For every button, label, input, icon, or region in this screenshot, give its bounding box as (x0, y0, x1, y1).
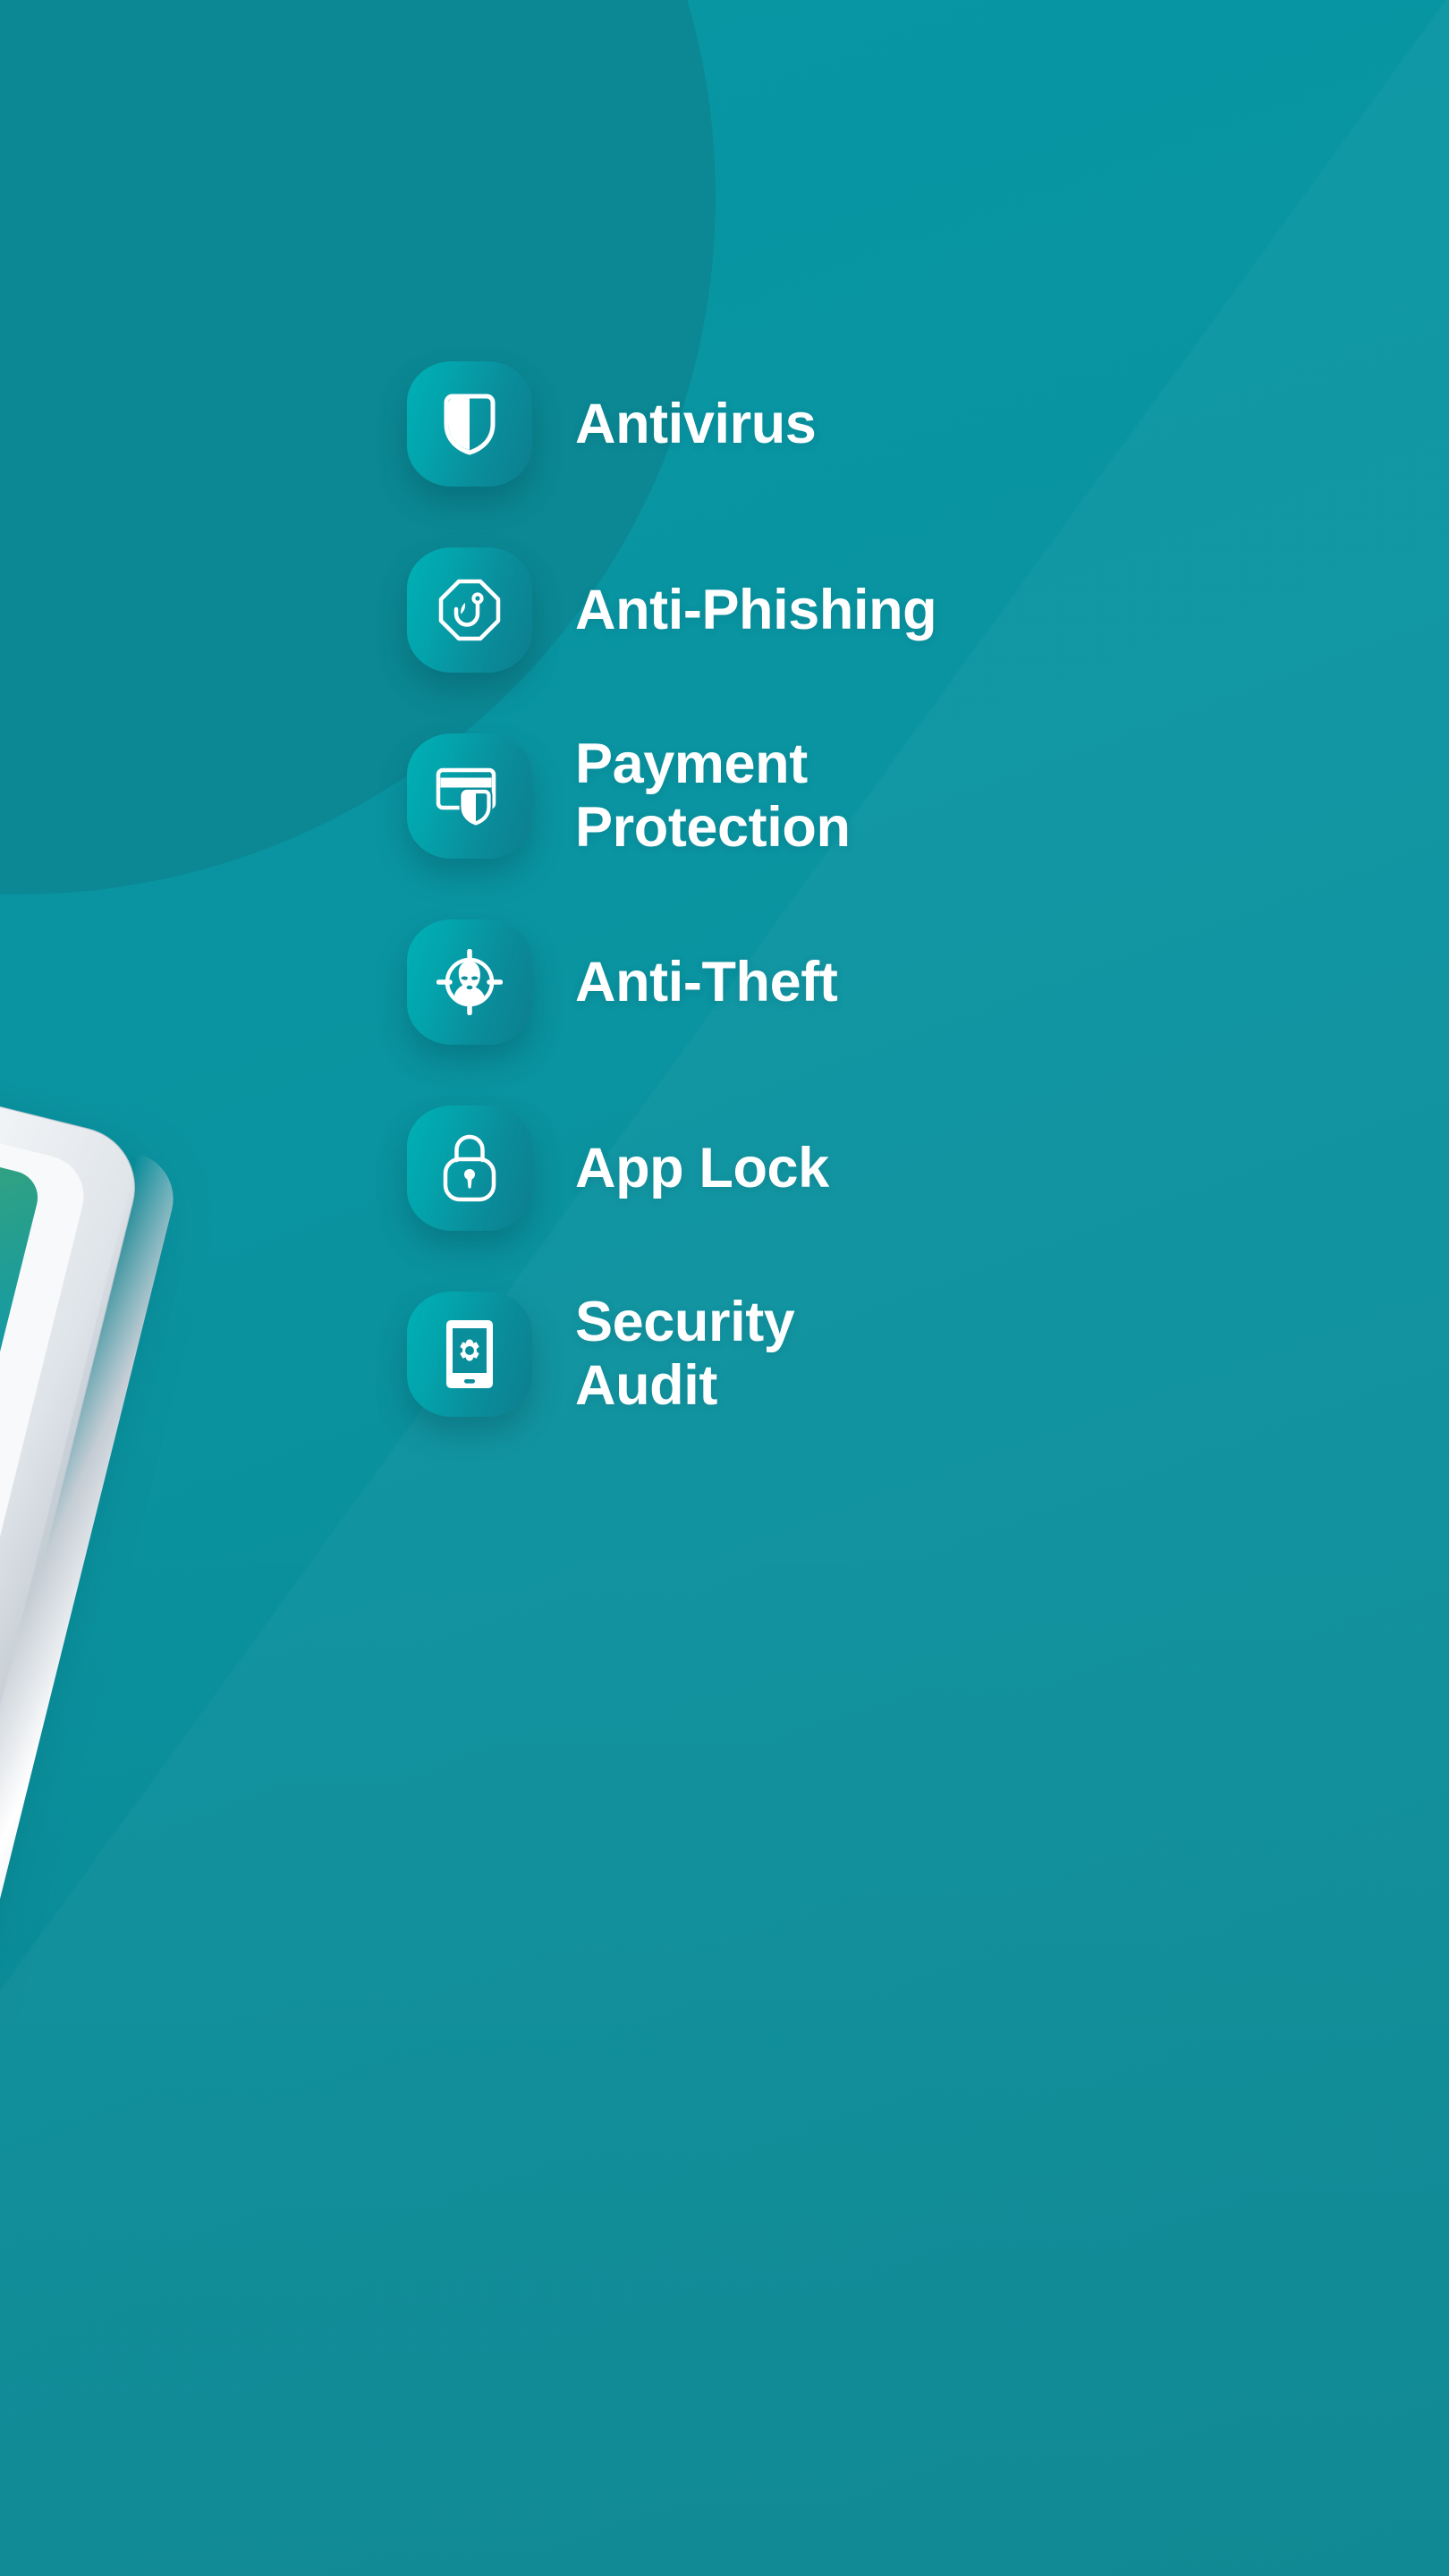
feature-list: Antivirus Anti-Phishing (407, 331, 1391, 1447)
feature-label: Security Audit (575, 1291, 794, 1417)
feature-icon-tile (407, 733, 532, 859)
padlock-icon (442, 1134, 497, 1202)
feature-label: Payment Protection (575, 733, 851, 859)
credit-card-shield-icon (436, 766, 504, 826)
feature-icon-tile (407, 361, 532, 487)
crosshair-thief-icon (436, 949, 503, 1015)
feature-row-security-audit[interactable]: Security Audit (407, 1261, 1391, 1447)
feature-label: Antivirus (575, 393, 816, 456)
feature-icon-tile (407, 1292, 532, 1417)
feature-row-app-lock[interactable]: App Lock (407, 1075, 1391, 1261)
feature-icon-tile (407, 1106, 532, 1231)
feature-label: App Lock (575, 1137, 829, 1200)
phone-gear-icon (445, 1318, 495, 1390)
feature-icon-tile (407, 919, 532, 1045)
feature-icon-tile (407, 547, 532, 673)
octagon-fish-hook-icon (437, 578, 502, 642)
feature-label: Anti-Phishing (575, 579, 936, 642)
phone-status-card-text: ted (0, 1247, 1, 1401)
shield-half-icon (442, 392, 497, 456)
feature-row-antivirus[interactable]: Antivirus (407, 331, 1391, 517)
feature-label: Anti-Theft (575, 951, 837, 1014)
feature-row-anti-phishing[interactable]: Anti-Phishing (407, 517, 1391, 703)
promo-screen: ted Antivirus (0, 0, 1449, 2576)
feature-row-payment-protection[interactable]: Payment Protection (407, 703, 1391, 889)
feature-row-anti-theft[interactable]: Anti-Theft (407, 889, 1391, 1075)
background-bottom-shade (0, 1503, 1449, 2576)
